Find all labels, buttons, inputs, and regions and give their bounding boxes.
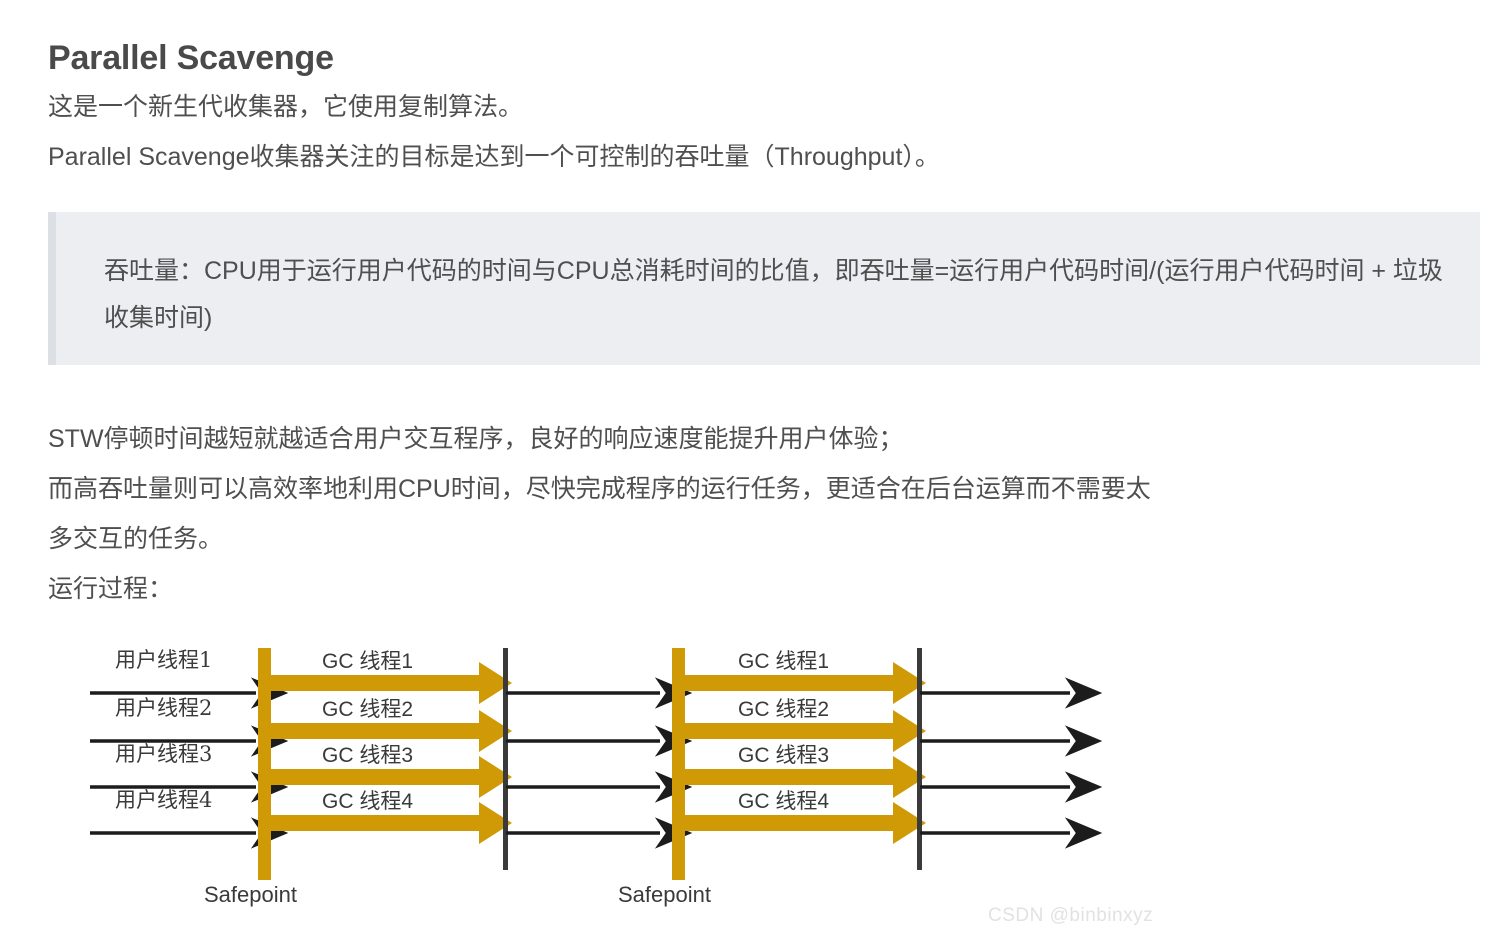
gc-thread-label-p2-4: GC 线程4 <box>738 790 829 813</box>
user-thread-arrows-right <box>920 693 1070 833</box>
gc-thread-label-p2-3: GC 线程3 <box>738 744 829 767</box>
user-thread-label-1: 用户线程1 <box>115 648 212 672</box>
gc-thread-label-p1-3: GC 线程3 <box>322 744 413 767</box>
article-page: Parallel Scavenge 这是一个新生代收集器，它使用复制算法。 Pa… <box>0 0 1498 946</box>
user-thread-arrows-middle <box>506 693 660 833</box>
body-line-3: 多交互的任务。 <box>48 514 1488 564</box>
parallel-scavenge-timeline-diagram: 用户线程1 用户线程2 用户线程3 用户线程4 <box>60 630 1240 930</box>
gc-thread-label-p2-2: GC 线程2 <box>738 698 829 721</box>
user-thread-label-3: 用户线程3 <box>115 742 212 766</box>
page-title: Parallel Scavenge <box>48 35 334 81</box>
gc-thread-label-p1-1: GC 线程1 <box>322 650 413 673</box>
throughput-quote-block: 吞吐量：CPU用于运行用户代码的时间与CPU总消耗时间的比值，即吞吐量=运行用户… <box>48 212 1480 365</box>
resume-bar-2 <box>917 648 922 870</box>
gc-thread-label-p1-4: GC 线程4 <box>322 790 413 813</box>
body-line-2: 而高吞吐量则可以高效率地利用CPU时间，尽快完成程序的运行任务，更适合在后台运算… <box>48 464 1488 514</box>
safepoint-label-2: Safepoint <box>618 882 711 907</box>
body-paragraphs: STW停顿时间越短就越适合用户交互程序，良好的响应速度能提升用户体验； 而高吞吐… <box>48 414 1488 614</box>
gc-thread-label-p2-1: GC 线程1 <box>738 650 829 673</box>
intro-line-2: Parallel Scavenge收集器关注的目标是达到一个可控制的吞吐量（Th… <box>48 132 1468 182</box>
safepoint-label-1: Safepoint <box>204 882 297 907</box>
throughput-quote-text: 吞吐量：CPU用于运行用户代码的时间与CPU总消耗时间的比值，即吞吐量=运行用户… <box>104 248 1444 342</box>
user-thread-label-4: 用户线程4 <box>115 788 212 812</box>
gc-thread-label-p1-2: GC 线程2 <box>322 698 413 721</box>
body-line-4: 运行过程： <box>48 564 1488 614</box>
user-thread-label-2: 用户线程2 <box>115 696 212 720</box>
body-line-1: STW停顿时间越短就越适合用户交互程序，良好的响应速度能提升用户体验； <box>48 414 1488 464</box>
intro-line-1: 这是一个新生代收集器，它使用复制算法。 <box>48 82 1468 132</box>
intro-paragraphs: 这是一个新生代收集器，它使用复制算法。 Parallel Scavenge收集器… <box>48 82 1468 182</box>
resume-bar-1 <box>503 648 508 870</box>
csdn-watermark: CSDN @binbinxyz <box>988 905 1153 927</box>
